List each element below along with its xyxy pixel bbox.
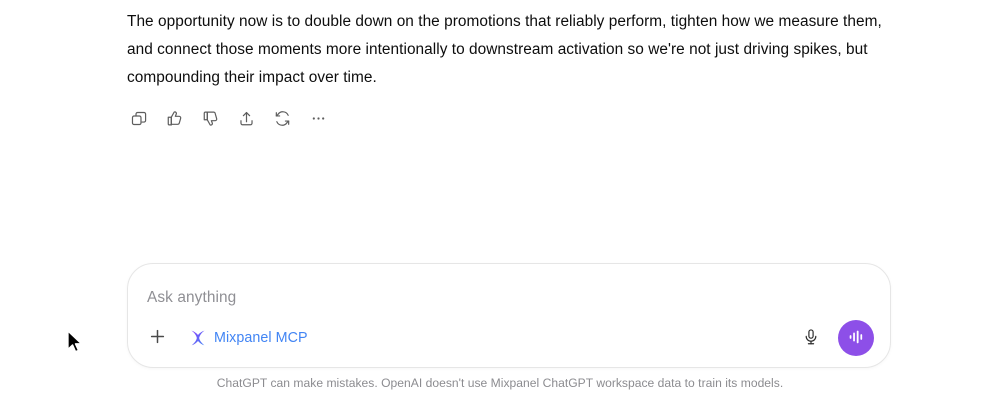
add-attachment-button[interactable]	[142, 323, 172, 353]
thumbs-down-button[interactable]	[196, 104, 224, 132]
voice-mode-button[interactable]	[838, 320, 874, 356]
share-button[interactable]	[232, 104, 260, 132]
thumbs-down-icon	[202, 110, 219, 127]
assistant-message-text: The opportunity now is to double down on…	[127, 8, 887, 92]
regenerate-icon	[274, 110, 291, 127]
mixpanel-logo-icon	[189, 329, 207, 347]
assistant-message: The opportunity now is to double down on…	[127, 8, 887, 92]
more-options-button[interactable]	[304, 104, 332, 132]
thumbs-up-icon	[166, 110, 183, 127]
voice-waveform-icon	[846, 327, 866, 350]
disclaimer-text: ChatGPT can make mistakes. OpenAI doesn'…	[0, 376, 1000, 390]
message-action-bar	[124, 104, 332, 132]
mcp-connector-chip[interactable]: Mixpanel MCP	[185, 326, 312, 350]
share-upload-icon	[238, 110, 255, 127]
copy-button[interactable]	[124, 104, 152, 132]
regenerate-button[interactable]	[268, 104, 296, 132]
dictate-button[interactable]	[797, 324, 825, 352]
message-composer[interactable]: Mixpanel MCP	[127, 263, 891, 368]
copy-icon	[130, 110, 147, 127]
composer-toolbar: Mixpanel MCP	[128, 309, 890, 367]
chatgpt-conversation-screen: The opportunity now is to double down on…	[0, 0, 1000, 400]
prompt-input[interactable]	[147, 287, 871, 309]
more-horizontal-icon	[310, 110, 327, 127]
composer-right-actions	[797, 320, 874, 356]
plus-icon	[148, 327, 167, 349]
mcp-connector-label: Mixpanel MCP	[214, 330, 308, 346]
thumbs-up-button[interactable]	[160, 104, 188, 132]
microphone-icon	[802, 328, 820, 349]
mouse-cursor	[66, 330, 84, 354]
